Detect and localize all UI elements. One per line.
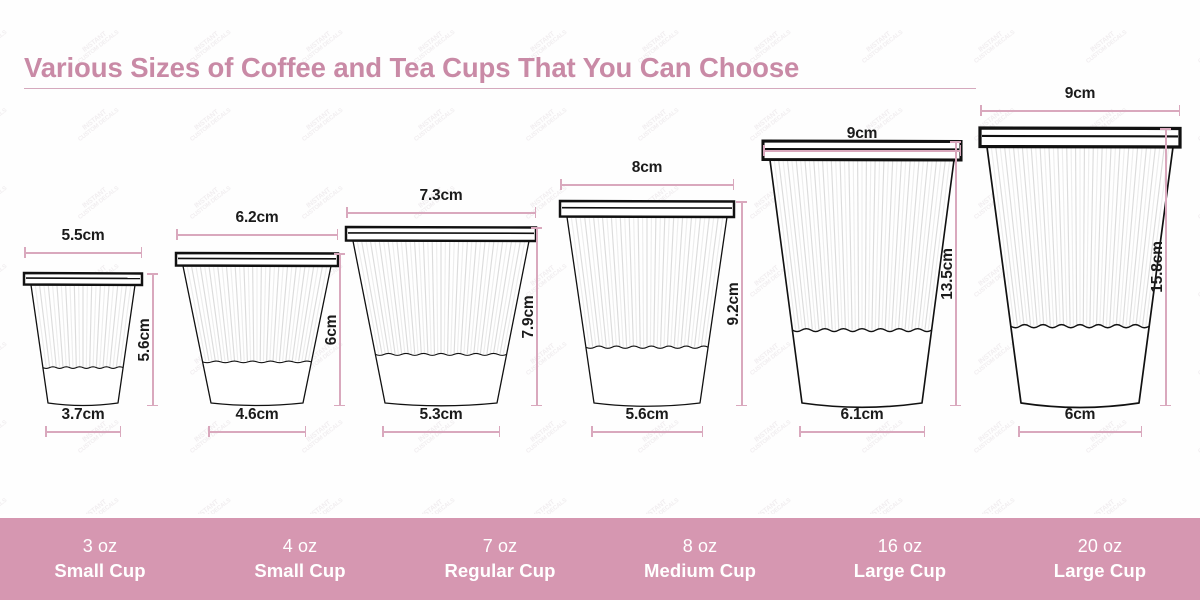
top-diameter-dimension-line-cap — [1179, 105, 1181, 116]
cup-diagram-layer: 5.5cm3.7cm5.6cm6.2cm4.6cm6cm7.3cm5.3cm7.… — [0, 0, 1200, 600]
top-diameter-label: 9cm — [1065, 85, 1095, 103]
legend-volume: 7 oz — [483, 536, 517, 557]
legend-volume: 16 oz — [878, 536, 923, 557]
infographic-canvas: INSTANTCUSTOM DECALSINSTANTCUSTOM DECALS… — [0, 0, 1200, 600]
height-label: 15.8cm — [1149, 228, 1167, 306]
top-diameter-dimension-line-cap — [980, 105, 982, 116]
height-dimension-line-cap — [1160, 128, 1171, 130]
cup-lid — [980, 128, 1180, 147]
cup-illustration — [0, 0, 1200, 600]
legend-cell-20oz: 20 ozLarge Cup — [1000, 518, 1200, 600]
height-dimension-line-cap — [1160, 405, 1171, 407]
bottom-diameter-dimension-line — [1018, 431, 1142, 433]
legend-cup-name: Medium Cup — [644, 560, 756, 582]
legend-cup-name: Large Cup — [1054, 560, 1146, 582]
legend-cell-4oz: 4 ozSmall Cup — [200, 518, 400, 600]
cup-group-20oz: 9cm6cm15.8cm — [0, 0, 1200, 600]
title-underline — [24, 88, 976, 89]
legend-cup-name: Small Cup — [254, 560, 345, 582]
bottom-diameter-label: 6cm — [1065, 406, 1095, 424]
legend-volume: 8 oz — [683, 536, 717, 557]
bottom-diameter-dimension-line-cap — [1141, 426, 1143, 437]
legend-cell-8oz: 8 ozMedium Cup — [600, 518, 800, 600]
legend-cell-7oz: 7 ozRegular Cup — [400, 518, 600, 600]
legend-volume: 4 oz — [283, 536, 317, 557]
legend-volume: 20 oz — [1078, 536, 1123, 557]
bottom-diameter-dimension-line-cap — [1018, 426, 1020, 437]
top-diameter-dimension-line — [980, 110, 1180, 112]
legend-bar: 3 ozSmall Cup4 ozSmall Cup7 ozRegular Cu… — [0, 514, 1200, 600]
legend-cell-3oz: 3 ozSmall Cup — [0, 518, 200, 600]
legend-cup-name: Small Cup — [54, 560, 145, 582]
legend-cup-name: Large Cup — [854, 560, 946, 582]
page-title: Various Sizes of Coffee and Tea Cups Tha… — [24, 52, 799, 84]
legend-cell-16oz: 16 ozLarge Cup — [800, 518, 1000, 600]
legend-volume: 3 oz — [83, 536, 117, 557]
legend-cup-name: Regular Cup — [444, 560, 555, 582]
